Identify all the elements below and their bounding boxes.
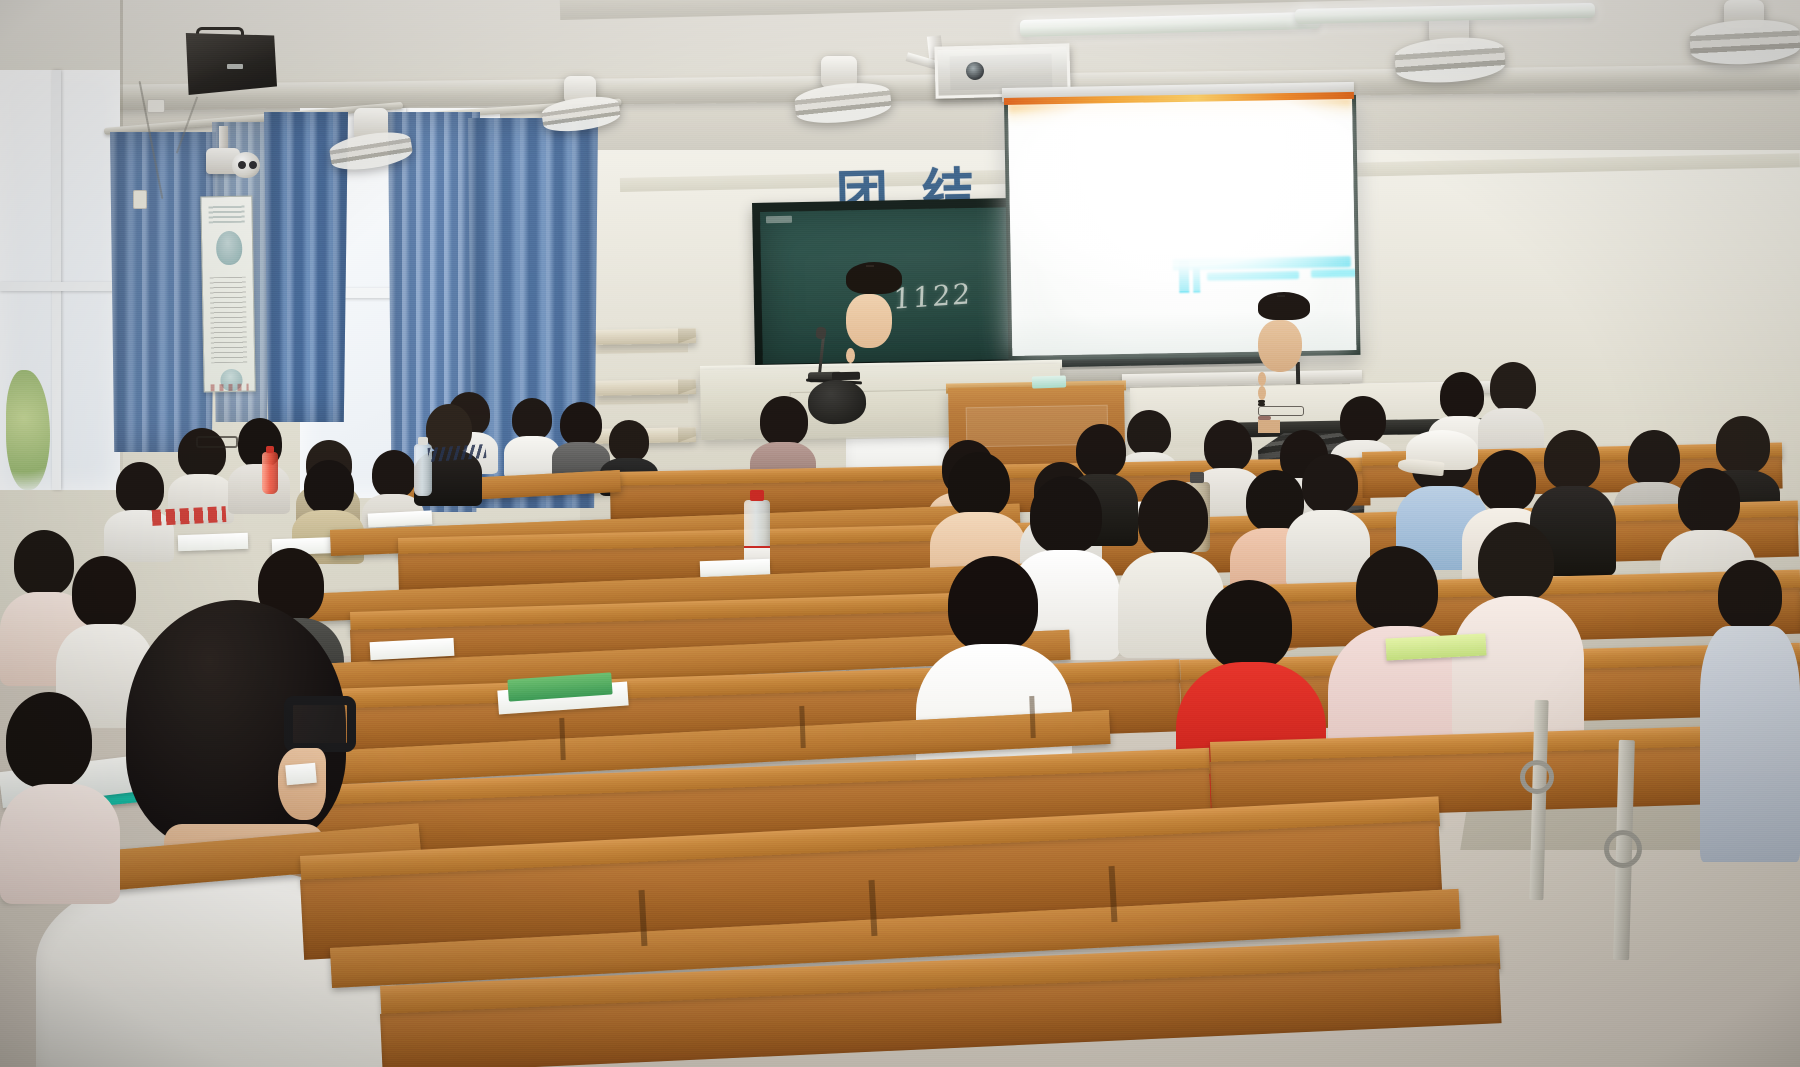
ear xyxy=(278,748,326,820)
student-standing xyxy=(1700,560,1800,860)
wall-socket-1 xyxy=(147,99,165,113)
classroom-photo: 团结 奋 1122 xyxy=(0,0,1800,1067)
wall-fan-icon-1 xyxy=(330,108,412,172)
mic-receiver xyxy=(832,372,860,380)
wall-fan-icon-3 xyxy=(795,56,891,128)
window-left xyxy=(0,70,120,490)
student xyxy=(0,692,120,892)
wall-fan-icon-5 xyxy=(1690,0,1800,70)
shelf-back-1 xyxy=(596,343,688,354)
wall-fan-icon-2 xyxy=(542,76,620,134)
wall-fan-icon-4 xyxy=(1395,10,1505,92)
speaker-brand-badge xyxy=(227,64,243,69)
student xyxy=(228,418,290,510)
podium-paper xyxy=(1032,375,1066,388)
curtain-1[interactable] xyxy=(110,132,216,452)
eyeglasses-icon xyxy=(1258,406,1304,416)
desk-leg-bracket xyxy=(1604,830,1642,868)
wall-socket-2 xyxy=(133,190,147,209)
notebook xyxy=(178,533,249,551)
wall-shelf-1 xyxy=(596,328,696,345)
wall-shelf-2 xyxy=(596,379,696,396)
student xyxy=(1452,522,1584,736)
desk-microphone-icon xyxy=(815,327,826,340)
blackboard-brand-tag xyxy=(766,216,792,223)
water-bottle xyxy=(262,452,278,494)
wall-poster xyxy=(200,196,255,393)
desk-leg-bracket xyxy=(1520,760,1554,794)
eyeglasses-icon xyxy=(284,696,356,752)
student-head-foreground xyxy=(807,379,867,425)
eraser xyxy=(285,763,317,786)
camera-lens-right xyxy=(249,161,257,169)
camera-lens-left xyxy=(238,161,246,169)
